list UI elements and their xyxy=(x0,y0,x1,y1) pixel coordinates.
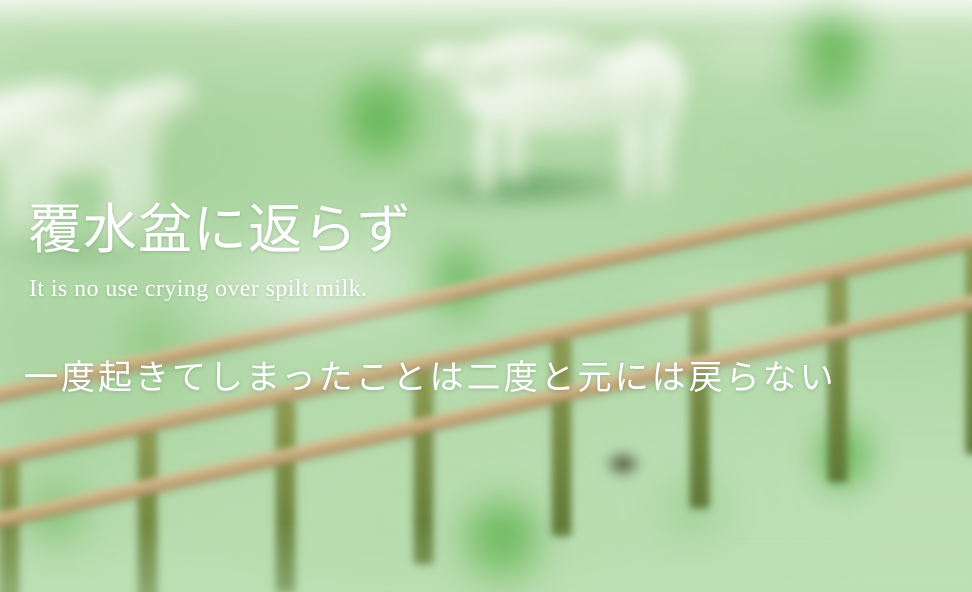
fence-post xyxy=(276,402,295,592)
proverb-card: 覆水盆に返らず It is no use crying over spilt m… xyxy=(0,0,972,592)
proverb-japanese-meaning: 一度起きてしまったことは二度と元には戻らない xyxy=(24,358,948,401)
cow-leg xyxy=(508,122,523,184)
fence-post xyxy=(0,462,19,592)
cow-head xyxy=(420,44,472,74)
cow-rump xyxy=(0,90,42,170)
cow-neck xyxy=(442,44,508,90)
tree-icon xyxy=(452,486,552,592)
cow-figurine xyxy=(424,22,694,202)
tree-icon xyxy=(660,470,724,546)
cow-leg xyxy=(622,122,642,200)
fence-rail xyxy=(0,284,972,541)
cow-back xyxy=(478,30,598,78)
proverb-english-subtitle: It is no use crying over spilt milk. xyxy=(29,275,944,304)
proverb-japanese-title: 覆水盆に返らず xyxy=(28,202,944,259)
cow-body xyxy=(0,98,160,176)
cow-leg xyxy=(652,118,669,198)
tree-icon xyxy=(332,62,428,174)
cow-leg xyxy=(8,164,26,238)
cow-rump xyxy=(610,40,686,124)
tree-icon xyxy=(18,470,94,562)
fence-post xyxy=(690,308,709,508)
cow-figurine-distant xyxy=(690,18,840,98)
tree-icon xyxy=(808,414,880,498)
cow-back xyxy=(0,82,106,126)
cow-shadow xyxy=(740,84,890,106)
cow-body xyxy=(460,48,668,134)
fence-post xyxy=(138,432,157,592)
fence-post xyxy=(966,246,972,454)
cow-tail xyxy=(670,68,682,140)
cow-leg xyxy=(476,122,495,196)
field-pebble xyxy=(606,452,640,476)
proverb-text-block: 覆水盆に返らず It is no use crying over spilt m… xyxy=(28,202,944,304)
cow-body xyxy=(706,32,818,74)
tree-icon xyxy=(786,0,878,110)
cow-head xyxy=(138,78,194,112)
cow-neck xyxy=(110,86,172,132)
